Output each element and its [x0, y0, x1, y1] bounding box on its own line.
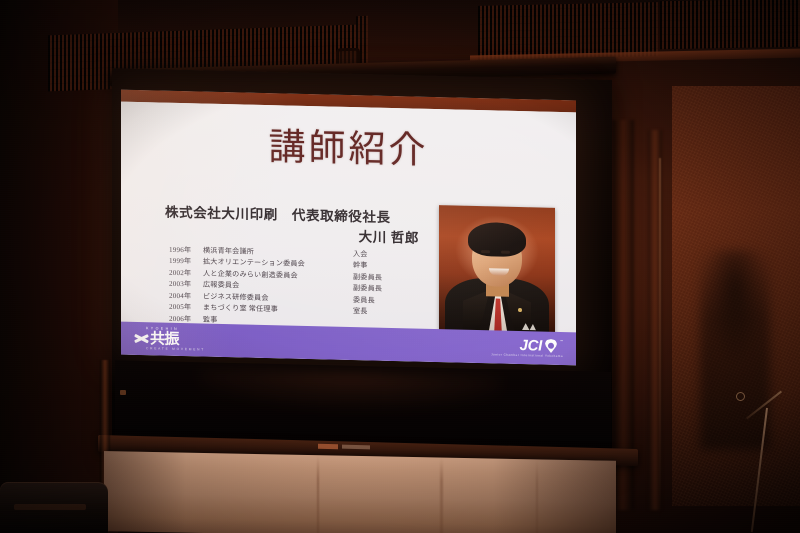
- kyoshin-logo-main-text: 共振: [150, 332, 179, 348]
- jci-map-pin-icon: [545, 339, 557, 353]
- career-year: 2003年: [169, 279, 203, 291]
- room-person-shadow: [700, 250, 770, 450]
- ceiling-vent-grille: [660, 0, 800, 49]
- portrait-eye-left: [481, 250, 490, 253]
- speaker-portrait-photo: [439, 205, 555, 338]
- career-year: 1999年: [169, 256, 203, 268]
- jci-logo-wordmark: JCI: [520, 338, 542, 354]
- career-year: 2005年: [169, 302, 203, 314]
- door-latch: [120, 390, 126, 395]
- equipment-case: [0, 482, 108, 533]
- jci-trademark-symbol: ™: [560, 340, 563, 343]
- kyoshin-logo: KYOEHIN 共振 CREATE MOVEMENT: [134, 327, 205, 352]
- jci-logo-main: JCI ™: [520, 338, 563, 354]
- projected-slide: 講師紹介 株式会社大川印刷 代表取締役社長 大川 哲郎 1996年横浜青年会議所…: [121, 90, 576, 366]
- career-year: 2002年: [169, 268, 203, 280]
- career-year: 2004年: [169, 291, 203, 303]
- room-wall-seam: [659, 158, 661, 518]
- slide-canvas: 講師紹介 株式会社大川印刷 代表取締役社長 大川 哲郎 1996年横浜青年会議所…: [121, 90, 576, 366]
- room-photo-scene: 講師紹介 株式会社大川印刷 代表取締役社長 大川 哲郎 1996年横浜青年会議所…: [0, 0, 800, 533]
- microphone-clip-icon: [736, 392, 745, 401]
- slide-headline: 株式会社大川印刷 代表取締役社長 大川 哲郎: [165, 203, 433, 250]
- portrait-eye-right: [501, 251, 510, 254]
- draped-table: [104, 451, 616, 533]
- jci-logo-tagline: Junior Chamber International Yokohama: [491, 354, 563, 359]
- screen-lower-glow: [200, 368, 500, 415]
- screen-bar-text-plate: [342, 445, 370, 450]
- career-year: 1996年: [169, 245, 203, 257]
- slide-content-area: 講師紹介 株式会社大川印刷 代表取締役社長 大川 哲郎 1996年横浜青年会議所…: [121, 102, 576, 366]
- kyoshin-x-mark-icon: [134, 332, 148, 345]
- slide-title: 講師紹介: [121, 126, 576, 174]
- tablecloth-shading: [104, 451, 616, 533]
- portrait-lapel-pin: [518, 308, 522, 312]
- portrait-hair: [468, 222, 526, 257]
- headline-company: 株式会社大川印刷 代表取締役社長: [165, 205, 391, 225]
- jci-logo: JCI ™ Junior Chamber International Yokoh…: [491, 337, 563, 358]
- kyoshin-logo-bottom-text: CREATE MOVEMENT: [134, 347, 205, 352]
- screen-bar-brand-plate: [318, 444, 338, 450]
- kyoshin-logo-main: 共振: [134, 331, 205, 348]
